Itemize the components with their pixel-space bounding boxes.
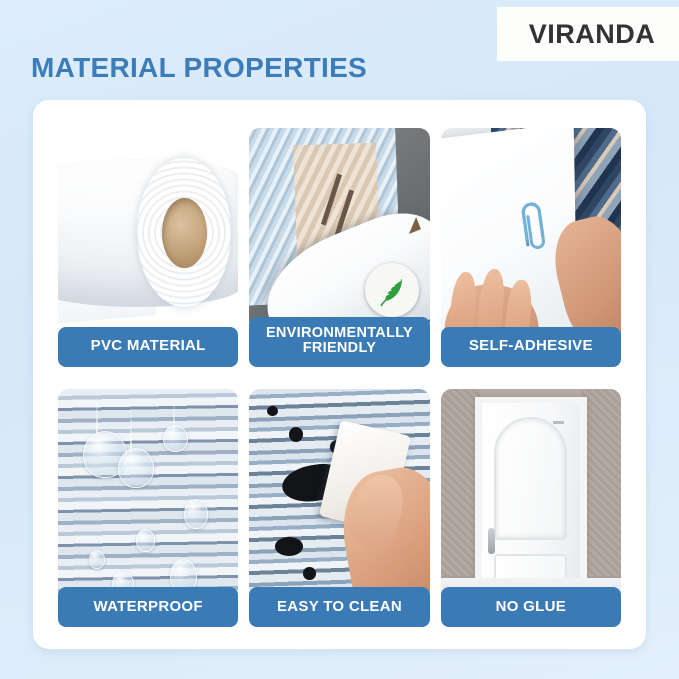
feature-label-self-adhesive: SELF-ADHESIVE: [441, 327, 621, 367]
door-panel-top-shape: [494, 417, 567, 540]
water-drop-shape: [89, 550, 105, 569]
feature-cell-no-glue: NO GLUE: [441, 389, 621, 628]
brand-logo-box: VIRANDA: [497, 7, 679, 61]
feature-label-easy-to-clean: EASY TO CLEAN: [249, 587, 429, 627]
roll-core-shape: [162, 198, 207, 268]
feature-label-environmentally-friendly: ENVIRONMENTALLY FRIENDLY: [249, 317, 429, 366]
water-drop-shape: [163, 425, 188, 453]
feature-cell-easy-to-clean: EASY TO CLEAN: [249, 389, 429, 628]
stain-shape: [275, 537, 304, 556]
water-drop-shape: [118, 448, 154, 488]
drop-trail-shape: [130, 406, 132, 453]
stain-shape: [267, 406, 278, 417]
feature-label-pvc-material: PVC MATERIAL: [58, 327, 238, 367]
eco-leaf-badge: [365, 263, 419, 317]
curl-tip-shape: [404, 216, 421, 233]
door-vent-shape: [553, 421, 564, 424]
feature-label-waterproof: WATERPROOF: [58, 587, 238, 627]
drop-trail-shape: [96, 393, 98, 436]
brand-name: VIRANDA: [529, 19, 656, 50]
wall-right-shape: [581, 389, 621, 576]
pvc-roll-image: [58, 128, 238, 341]
eco-friendly-image: [249, 128, 429, 331]
water-drop-shape: [136, 529, 156, 552]
page-title: MATERIAL PROPERTIES: [31, 52, 367, 84]
feature-grid: PVC MATERIAL: [58, 128, 621, 627]
no-glue-door-image: [441, 389, 621, 602]
self-adhesive-image: [441, 128, 621, 341]
stain-shape: [303, 567, 316, 580]
label-line-1: ENVIRONMENTALLY: [266, 325, 413, 341]
door-handle-icon: [488, 528, 495, 554]
leaf-icon: [375, 273, 409, 307]
feature-label-no-glue: NO GLUE: [441, 587, 621, 627]
door-frame-shape: [475, 397, 587, 601]
feature-cell-self-adhesive: SELF-ADHESIVE: [441, 128, 621, 367]
feature-cell-pvc-material: PVC MATERIAL: [58, 128, 238, 367]
feature-cell-environmentally-friendly: ENVIRONMENTALLY FRIENDLY: [249, 128, 429, 367]
water-drop-shape: [184, 499, 207, 529]
feature-card: PVC MATERIAL: [33, 100, 646, 649]
label-line-2: FRIENDLY: [303, 340, 377, 356]
stain-shape: [289, 427, 303, 442]
easy-to-clean-image: [249, 389, 429, 602]
feature-cell-waterproof: WATERPROOF: [58, 389, 238, 628]
waterproof-image: [58, 389, 238, 602]
door-leaf-shape: [482, 403, 580, 601]
